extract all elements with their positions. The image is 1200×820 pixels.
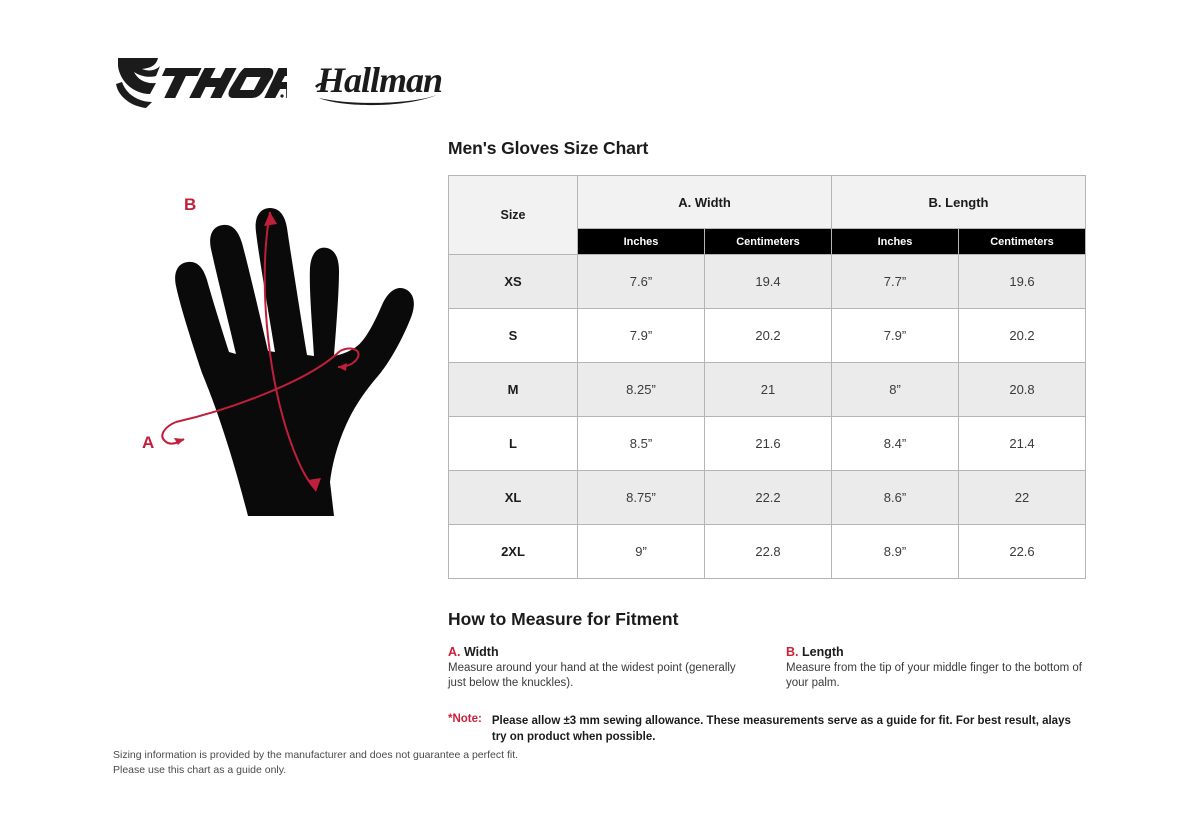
size-chart-table: Size A. Width B. Length Inches Centimete…: [448, 175, 1086, 579]
cell-width-cm: 22.2: [705, 471, 832, 525]
table-row: S 7.9” 20.2 7.9” 20.2: [449, 309, 1086, 363]
note-row: *Note: Please allow ±3 mm sewing allowan…: [448, 713, 1088, 745]
cell-length-in: 8”: [832, 363, 959, 417]
brand-logo-bar: Hallman: [112, 52, 448, 114]
table-row: XS 7.6” 19.4 7.7” 19.6: [449, 255, 1086, 309]
cell-width-cm: 22.8: [705, 525, 832, 579]
cell-width-in: 7.9”: [578, 309, 705, 363]
cell-width-in: 8.25”: [578, 363, 705, 417]
table-row: 2XL 9” 22.8 8.9” 22.6: [449, 525, 1086, 579]
measure-marker-a: A.: [448, 645, 461, 659]
cell-width-cm: 19.4: [705, 255, 832, 309]
cell-length-cm: 20.2: [959, 309, 1086, 363]
cell-width-in: 8.75”: [578, 471, 705, 525]
cell-width-in: 9”: [578, 525, 705, 579]
measure-text-width: Measure around your hand at the widest p…: [448, 661, 750, 691]
column-header-width-centimeters: Centimeters: [705, 229, 832, 255]
measure-label-width: A. Width: [448, 645, 750, 659]
measure-name-width: Width: [464, 645, 499, 659]
measure-name-length: Length: [802, 645, 844, 659]
hand-silhouette: [175, 208, 414, 516]
cell-width-cm: 21: [705, 363, 832, 417]
hallman-logo: Hallman: [313, 52, 448, 115]
note-text: Please allow ±3 mm sewing allowance. The…: [492, 713, 1084, 745]
measure-item-width: A. Width Measure around your hand at the…: [448, 645, 750, 691]
table-header-group-row: Size A. Width B. Length: [449, 176, 1086, 229]
cell-length-cm: 19.6: [959, 255, 1086, 309]
cell-width-in: 8.5”: [578, 417, 705, 471]
cell-length-cm: 22: [959, 471, 1086, 525]
footer-line-2: Please use this chart as a guide only.: [113, 763, 518, 778]
cell-length-in: 7.7”: [832, 255, 959, 309]
column-header-size: Size: [449, 176, 578, 255]
measure-marker-b: B.: [786, 645, 799, 659]
column-header-group-width: A. Width: [578, 176, 832, 229]
diagram-label-a: A: [142, 433, 154, 452]
cell-length-cm: 21.4: [959, 417, 1086, 471]
table-row: M 8.25” 21 8” 20.8: [449, 363, 1086, 417]
column-header-length-inches: Inches: [832, 229, 959, 255]
how-to-measure-title: How to Measure for Fitment: [448, 609, 1088, 630]
cell-size: XS: [449, 255, 578, 309]
cell-size: L: [449, 417, 578, 471]
note-label: *Note:: [448, 713, 482, 745]
column-header-width-inches: Inches: [578, 229, 705, 255]
cell-length-in: 7.9”: [832, 309, 959, 363]
table-row: L 8.5” 21.6 8.4” 21.4: [449, 417, 1086, 471]
cell-length-in: 8.6”: [832, 471, 959, 525]
cell-length-cm: 20.8: [959, 363, 1086, 417]
cell-length-in: 8.4”: [832, 417, 959, 471]
cell-length-in: 8.9”: [832, 525, 959, 579]
cell-width-cm: 21.6: [705, 417, 832, 471]
measure-label-length: B. Length: [786, 645, 1088, 659]
footer-line-1: Sizing information is provided by the ma…: [113, 748, 518, 763]
cell-size: 2XL: [449, 525, 578, 579]
diagram-label-b: B: [184, 195, 196, 214]
table-row: XL 8.75” 22.2 8.6” 22: [449, 471, 1086, 525]
page-title: Men's Gloves Size Chart: [448, 138, 1088, 159]
measure-text-length: Measure from the tip of your middle fing…: [786, 661, 1088, 691]
column-header-length-centimeters: Centimeters: [959, 229, 1086, 255]
cell-width-cm: 20.2: [705, 309, 832, 363]
thor-logo: [112, 52, 287, 115]
footer-disclaimer: Sizing information is provided by the ma…: [113, 748, 518, 778]
content-column: Men's Gloves Size Chart Size A. Width B.…: [448, 138, 1088, 745]
cell-size: XL: [449, 471, 578, 525]
measure-item-length: B. Length Measure from the tip of your m…: [786, 645, 1088, 691]
how-to-measure-section: How to Measure for Fitment A. Width Meas…: [448, 609, 1088, 745]
svg-text:Hallman: Hallman: [316, 60, 442, 100]
cell-size: S: [449, 309, 578, 363]
hand-measurement-diagram: B A: [118, 160, 448, 550]
cell-size: M: [449, 363, 578, 417]
cell-width-in: 7.6”: [578, 255, 705, 309]
column-header-group-length: B. Length: [832, 176, 1086, 229]
cell-length-cm: 22.6: [959, 525, 1086, 579]
